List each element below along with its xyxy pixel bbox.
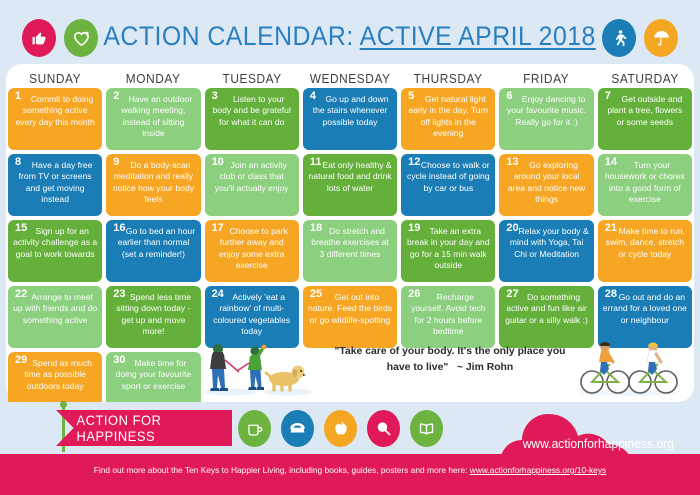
mug-icon <box>238 410 271 447</box>
day-heading-tuesday: TUESDAY <box>205 72 298 86</box>
calendar-day-16[interactable]: 16Go to bed an hour earlier than normal … <box>106 220 200 282</box>
quote-row: "Take care of your body. It's the only p… <box>8 336 692 398</box>
day-heading-monday: MONDAY <box>107 72 200 86</box>
calendar-day-number: 15 <box>15 223 27 234</box>
calendar-day-number: 7 <box>605 91 611 102</box>
calendar-day-number: 19 <box>408 223 420 234</box>
magnifying-glass-icon <box>367 410 400 447</box>
calendar-day-10[interactable]: 10Join an activity club or class that yo… <box>205 154 299 216</box>
calendar-day-number: 2 <box>113 91 119 102</box>
calendar-day-text: Have an outdoor walking meeting, instead… <box>111 92 195 139</box>
dog-walkers-illustration <box>192 338 322 396</box>
calendar-day-number: 20 <box>506 223 518 234</box>
day-headings-row: SUNDAY MONDAY TUESDAY WEDNESDAY THURSDAY… <box>6 72 694 86</box>
calendar-day-text: Listen to your body and be grateful for … <box>210 92 294 128</box>
calendar-day-9[interactable]: 9Do a body-scan meditation and really no… <box>106 154 200 216</box>
apple-icon <box>324 410 357 447</box>
day-heading-thursday: THURSDAY <box>402 72 495 86</box>
calendar-day-number: 4 <box>310 91 316 102</box>
quote-block: "Take care of your body. It's the only p… <box>330 344 570 376</box>
calendar-day-4[interactable]: 4Go up and down the stairs whenever poss… <box>303 88 397 150</box>
calendar-day-text: Go up and down the stairs whenever possi… <box>308 92 392 128</box>
telephone-icon <box>281 410 314 447</box>
page-title: ACTION CALENDAR: ACTIVE APRIL 2018 <box>104 21 596 52</box>
calendar-day-number: 11 <box>310 157 322 168</box>
calendar-day-number: 27 <box>506 289 518 300</box>
calendar-day-number: 14 <box>605 157 617 168</box>
cyclists-illustration <box>574 338 684 396</box>
open-book-icon <box>410 410 443 447</box>
poster-root: ACTION CALENDAR: ACTIVE APRIL 2018 SUNDA… <box>0 0 700 495</box>
ten-keys-icons <box>238 410 443 447</box>
site-url[interactable]: www.actionforhappiness.org <box>523 436 674 451</box>
calendar-day-number: 16 <box>113 223 125 234</box>
calendar-day-number: 13 <box>506 157 518 168</box>
calendar-day-number: 25 <box>310 289 322 300</box>
header: ACTION CALENDAR: ACTIVE APRIL 2018 <box>0 0 700 72</box>
calendar-day-21[interactable]: 21Make time to run, swim, dance, stretch… <box>598 220 692 282</box>
calendar-day-number: 17 <box>212 223 224 234</box>
calendar-day-text: Do a body-scan meditation and really not… <box>111 158 195 205</box>
calendar-day-18[interactable]: 18Do stretch and breathe exercises at 3 … <box>303 220 397 282</box>
calendar-day-20[interactable]: 20Relax your body & mind with Yoga, Tai … <box>499 220 593 282</box>
thumbs-up-icon <box>22 19 56 57</box>
calendar-day-7[interactable]: 7Get outside and plant a tree, flowers o… <box>598 88 692 150</box>
calendar-day-19[interactable]: 19Take an extra break in your day and go… <box>401 220 495 282</box>
brand-ribbon: ACTION FOR HAPPINESS <box>56 410 232 446</box>
calendar-day-14[interactable]: 14Turn your housework or chores into a g… <box>598 154 692 216</box>
calendar-day-number: 5 <box>408 91 414 102</box>
calendar-day-number: 9 <box>113 157 119 168</box>
day-heading-friday: FRIDAY <box>500 72 593 86</box>
calendar-day-2[interactable]: 2Have an outdoor walking meeting, instea… <box>106 88 200 150</box>
calendar-day-5[interactable]: 5Get natural light early in the day. Tur… <box>401 88 495 150</box>
calendar-day-number: 23 <box>113 289 125 300</box>
person-walking-icon <box>602 19 636 57</box>
header-icons-right <box>602 19 678 57</box>
calendar-day-number: 28 <box>605 289 617 300</box>
calendar-day-number: 18 <box>310 223 322 234</box>
calendar-day-11[interactable]: 11Eat only healthy & natural food and dr… <box>303 154 397 216</box>
calendar-day-15[interactable]: 15Sign up for an activity challenge as a… <box>8 220 102 282</box>
calendar-day-1[interactable]: 1Commit to doing something active every … <box>8 88 102 150</box>
calendar-day-text: Get outside and plant a tree, flowers or… <box>603 92 687 128</box>
calendar-day-number: 3 <box>212 91 218 102</box>
calendar-day-3[interactable]: 3Listen to your body and be grateful for… <box>205 88 299 150</box>
calendar-day-number: 1 <box>15 91 21 102</box>
quote-text: "Take care of your body. It's the only p… <box>334 346 565 373</box>
calendar-day-number: 22 <box>15 289 27 300</box>
page-title-highlight: ACTIVE APRIL 2018 <box>360 21 596 51</box>
calendar-day-8[interactable]: 8Have a day free from TV or screens and … <box>8 154 102 216</box>
calendar-day-text: Get natural light early in the day. Turn… <box>406 92 490 139</box>
calendar-day-number: 8 <box>15 157 21 168</box>
heart-arrow-icon <box>64 19 98 57</box>
calendar-day-number: 26 <box>408 289 420 300</box>
footer-note-text: Find out more about the Ten Keys to Happ… <box>94 465 470 475</box>
brand-ribbon-label: ACTION FOR HAPPINESS <box>76 412 225 444</box>
calendar-day-12[interactable]: 12Choose to walk or cycle instead of goi… <box>401 154 495 216</box>
umbrella-icon <box>644 19 678 57</box>
calendar-day-text: Commit to doing something active every d… <box>13 92 97 128</box>
footer-note-link[interactable]: www.actionforhappiness.org/10-keys <box>470 465 606 475</box>
calendar-day-text: Have a day free from TV or screens and g… <box>13 158 97 205</box>
header-icons-left <box>22 19 98 57</box>
calendar-day-13[interactable]: 13Go exploring around your local area an… <box>499 154 593 216</box>
calendar-day-number: 10 <box>212 157 224 168</box>
calendar-day-number: 12 <box>408 157 420 168</box>
calendar-day-text: Enjoy dancing to your favourite music. R… <box>504 92 588 128</box>
page-title-prefix: ACTION CALENDAR: <box>104 21 360 51</box>
day-heading-wednesday: WEDNESDAY <box>303 72 396 86</box>
day-heading-sunday: SUNDAY <box>8 72 101 86</box>
calendar-day-number: 6 <box>506 91 512 102</box>
footer-note: Find out more about the Ten Keys to Happ… <box>0 465 700 475</box>
day-heading-saturday: SATURDAY <box>598 72 691 86</box>
calendar-day-6[interactable]: 6Enjoy dancing to your favourite music. … <box>499 88 593 150</box>
quote-author: ~ Jim Rohn <box>457 362 513 373</box>
calendar-day-number: 24 <box>212 289 224 300</box>
calendar-day-number: 21 <box>605 223 617 234</box>
calendar-day-17[interactable]: 17Choose to park further away and enjoy … <box>205 220 299 282</box>
